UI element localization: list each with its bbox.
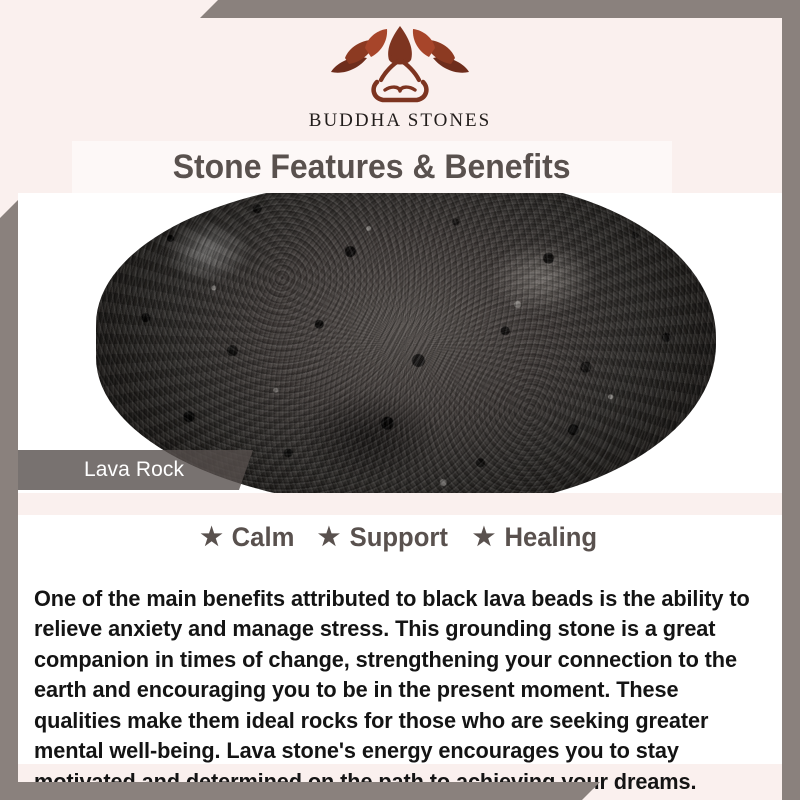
star-icon: ★: [473, 525, 495, 550]
lava-rock-photo: [18, 193, 782, 493]
star-icon: ★: [200, 525, 222, 550]
stone-caption-label: Lava Rock: [18, 458, 184, 482]
benefit-item-support: ★ Support: [318, 522, 451, 553]
lava-rock-specimen: [96, 193, 716, 493]
description-text: One of the main benefits attributed to b…: [34, 584, 760, 798]
photo-bottom-separator: [18, 493, 782, 515]
benefit-label: Support: [350, 522, 448, 553]
frame-band-bottom: [0, 782, 600, 800]
frame-band-right: [782, 0, 800, 800]
title-banner: Stone Features & Benefits: [72, 141, 672, 193]
benefit-item-healing: ★ Healing: [473, 522, 600, 553]
infographic-page: Lava Rock: [0, 0, 800, 800]
benefits-row: ★ Calm ★ Support ★ Healing: [18, 515, 782, 559]
star-icon: ★: [318, 525, 340, 550]
brand-logo: BUDDHA STONES: [0, 18, 800, 140]
page-title: Stone Features & Benefits: [173, 148, 571, 187]
stone-caption-bar: Lava Rock: [18, 450, 253, 490]
frame-band-top: [200, 0, 800, 18]
brand-name: BUDDHA STONES: [309, 110, 491, 132]
lotus-meditation-figure-icon: [315, 22, 485, 108]
description-block: One of the main benefits attributed to b…: [18, 559, 782, 764]
frame-band-left: [0, 200, 18, 800]
benefit-label: Healing: [505, 522, 598, 553]
benefit-item-calm: ★ Calm: [200, 522, 295, 553]
benefit-label: Calm: [231, 522, 294, 553]
